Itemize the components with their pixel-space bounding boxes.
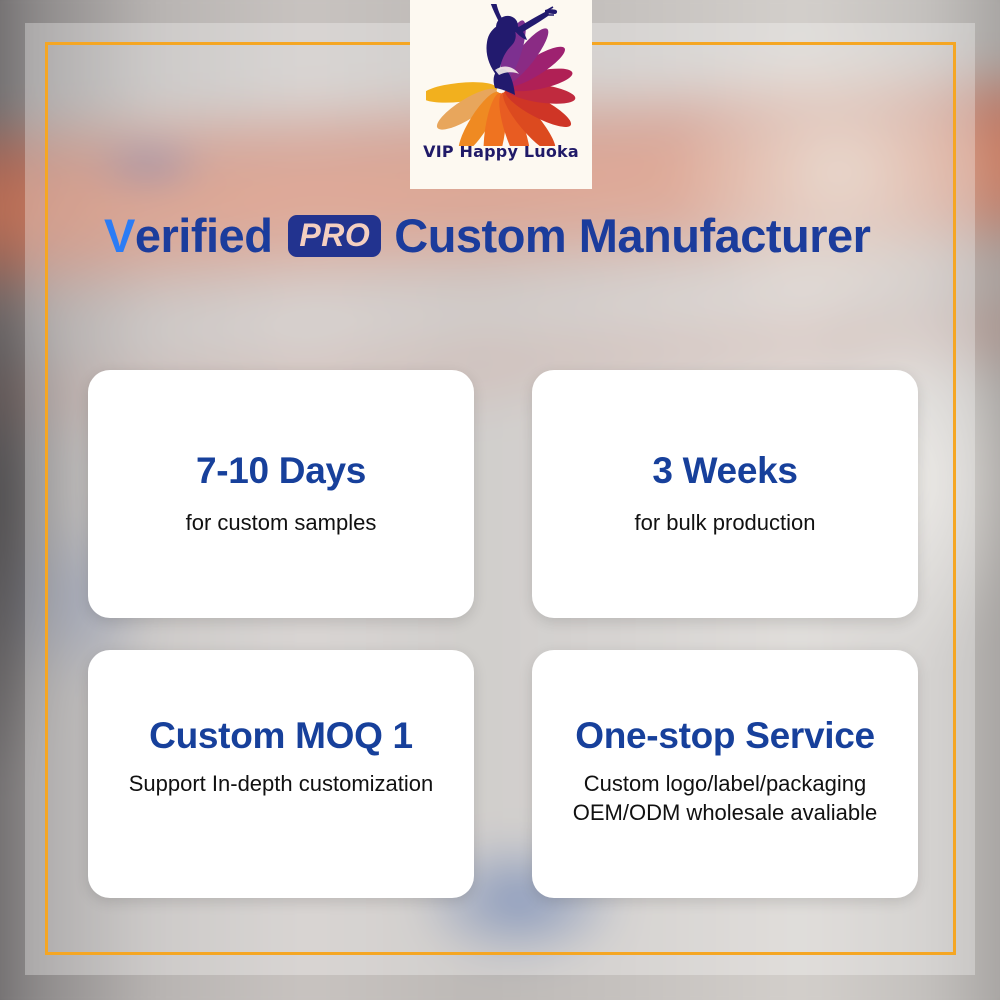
feature-card-subtitle-line: Support In-depth customization xyxy=(129,769,434,799)
headline: Verified PRO Custom Manufacturer xyxy=(104,212,870,259)
promo-banner: VIP Happy Luoka Verified PRO Custom Manu… xyxy=(0,0,1000,1000)
feature-card-title: 3 Weeks xyxy=(652,451,797,492)
feature-card-subtitle: Support In-depth customization xyxy=(129,769,434,799)
feature-card-subtitle-line: for bulk production xyxy=(635,508,816,538)
verified-word: Verified xyxy=(104,212,272,259)
verified-word-rest: erified xyxy=(135,212,273,259)
feature-card: One-stop Service Custom logo/label/packa… xyxy=(532,650,918,898)
verified-checkmark-v-icon: V xyxy=(104,212,135,259)
feature-card-title: One-stop Service xyxy=(575,716,875,757)
feature-card-grid: 7-10 Days for custom samples 3 Weeks for… xyxy=(88,370,918,898)
headline-rest: Custom Manufacturer xyxy=(394,212,870,259)
feature-card-subtitle-line: for custom samples xyxy=(186,508,377,538)
pro-badge: PRO xyxy=(288,215,381,257)
feature-card-subtitle: for bulk production xyxy=(635,508,816,538)
feature-card: 3 Weeks for bulk production xyxy=(532,370,918,618)
feature-card-subtitle-line: Custom logo/label/packaging xyxy=(573,769,877,799)
feature-card-subtitle-line: OEM/ODM wholesale avaliable xyxy=(573,798,877,828)
feature-card-subtitle: Custom logo/label/packaging OEM/ODM whol… xyxy=(573,769,877,828)
feature-card: Custom MOQ 1 Support In-depth customizat… xyxy=(88,650,474,898)
feature-card-subtitle: for custom samples xyxy=(186,508,377,538)
feature-card-title: 7-10 Days xyxy=(196,451,366,492)
brand-logo-box: VIP Happy Luoka xyxy=(410,0,592,189)
feature-card-title: Custom MOQ 1 xyxy=(149,716,413,757)
dancer-flower-logo-icon xyxy=(426,4,576,146)
feature-card: 7-10 Days for custom samples xyxy=(88,370,474,618)
